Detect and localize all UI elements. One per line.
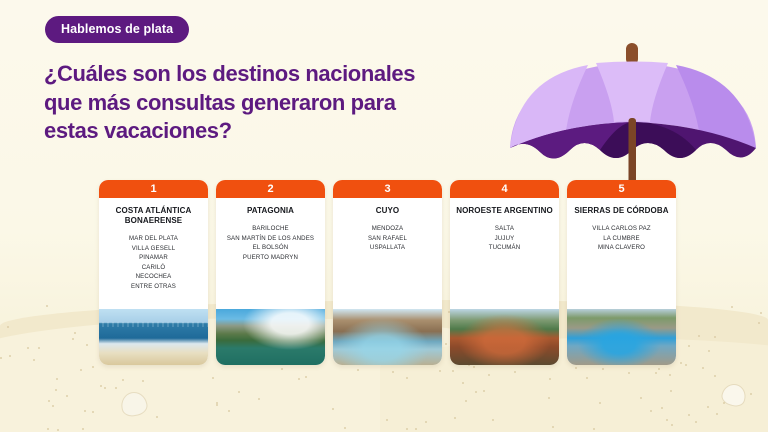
card-rank-badge: 4 [450,180,559,198]
destination-card-4[interactable]: 4NOROESTE ARGENTINOSALTAJUJUYTUCUMÁN [450,180,559,365]
card-title: NOROESTE ARGENTINO [456,206,553,216]
destination-item: SAN RAFAEL [368,234,407,243]
destination-item: NECOCHEA [129,272,178,281]
destination-item: MAR DEL PLATA [129,234,178,243]
card-destination-list: MENDOZASAN RAFAELUSPALLATA [368,224,407,252]
canyon-river-photo [333,309,442,365]
card-title: SIERRAS DE CÓRDOBA [574,206,668,216]
destination-item: USPALLATA [368,243,407,252]
photo-highlight [99,322,208,326]
destination-item: VILLA CARLOS PAZ [592,224,651,233]
destination-item: CARILÓ [129,263,178,272]
destination-card-1[interactable]: 1COSTA ATLÁNTICA BONAERENSEMAR DEL PLATA… [99,180,208,365]
destination-item: MINA CLAVERO [592,243,651,252]
headline-line-2: que más consultas generaron para [44,89,464,118]
destination-item: PINAMAR [129,253,178,262]
card-destination-list: MAR DEL PLATAVILLA GESELLPINAMARCARILÓNE… [129,234,178,291]
destination-item: SALTA [489,224,521,233]
destination-item: PUERTO MADRYN [227,253,314,262]
destination-item: ENTRE OTRAS [129,282,178,291]
photo-highlight [216,309,325,365]
headline-line-3: estas vacaciones? [44,117,464,146]
destination-card-5[interactable]: 5SIERRAS DE CÓRDOBAVILLA CARLOS PAZLA CU… [567,180,676,365]
rocky-river-photo [567,309,676,365]
card-body: CUYOMENDOZASAN RAFAELUSPALLATA [333,198,442,309]
destination-item: EL BOLSÓN [227,243,314,252]
card-title: CUYO [376,206,400,216]
card-title: COSTA ATLÁNTICA BONAERENSE [104,206,203,226]
colored-hills-photo [450,309,559,365]
card-rank-badge: 1 [99,180,208,198]
card-destination-list: SALTAJUJUYTUCUMÁN [489,224,521,252]
headline-line-1: ¿Cuáles son los destinos nacionales [44,60,464,89]
photo-highlight [333,309,442,365]
snowy-mountain-lake-photo [216,309,325,365]
beach-umbrella-icon [500,38,768,198]
card-rank-badge: 3 [333,180,442,198]
destination-card-2[interactable]: 2PATAGONIABARILOCHESAN MARTÍN DE LOS AND… [216,180,325,365]
photo-base [99,309,208,365]
card-destination-list: VILLA CARLOS PAZLA CUMBREMINA CLAVERO [592,224,651,252]
destination-item: JUJUY [489,234,521,243]
destination-item: SAN MARTÍN DE LOS ANDES [227,234,314,243]
card-body: PATAGONIABARILOCHESAN MARTÍN DE LOS ANDE… [216,198,325,309]
destination-card-3[interactable]: 3CUYOMENDOZASAN RAFAELUSPALLATA [333,180,442,365]
section-badge: Hablemos de plata [45,16,189,43]
photo-highlight [450,309,559,365]
destination-card-list: 1COSTA ATLÁNTICA BONAERENSEMAR DEL PLATA… [99,180,691,365]
card-title: PATAGONIA [247,206,294,216]
card-rank-badge: 5 [567,180,676,198]
card-body: NOROESTE ARGENTINOSALTAJUJUYTUCUMÁN [450,198,559,309]
destination-item: VILLA GESELL [129,244,178,253]
card-rank-badge: 2 [216,180,325,198]
destination-item: TUCUMÁN [489,243,521,252]
destination-item: BARILOCHE [227,224,314,233]
destination-item: LA CUMBRE [592,234,651,243]
card-destination-list: BARILOCHESAN MARTÍN DE LOS ANDESEL BOLSÓ… [227,224,314,262]
photo-highlight [567,309,676,365]
card-body: SIERRAS DE CÓRDOBAVILLA CARLOS PAZLA CUM… [567,198,676,309]
card-body: COSTA ATLÁNTICA BONAERENSEMAR DEL PLATAV… [99,198,208,309]
destination-item: MENDOZA [368,224,407,233]
page-title: ¿Cuáles son los destinos nacionales que … [44,60,464,146]
beach-city-skyline-photo [99,309,208,365]
